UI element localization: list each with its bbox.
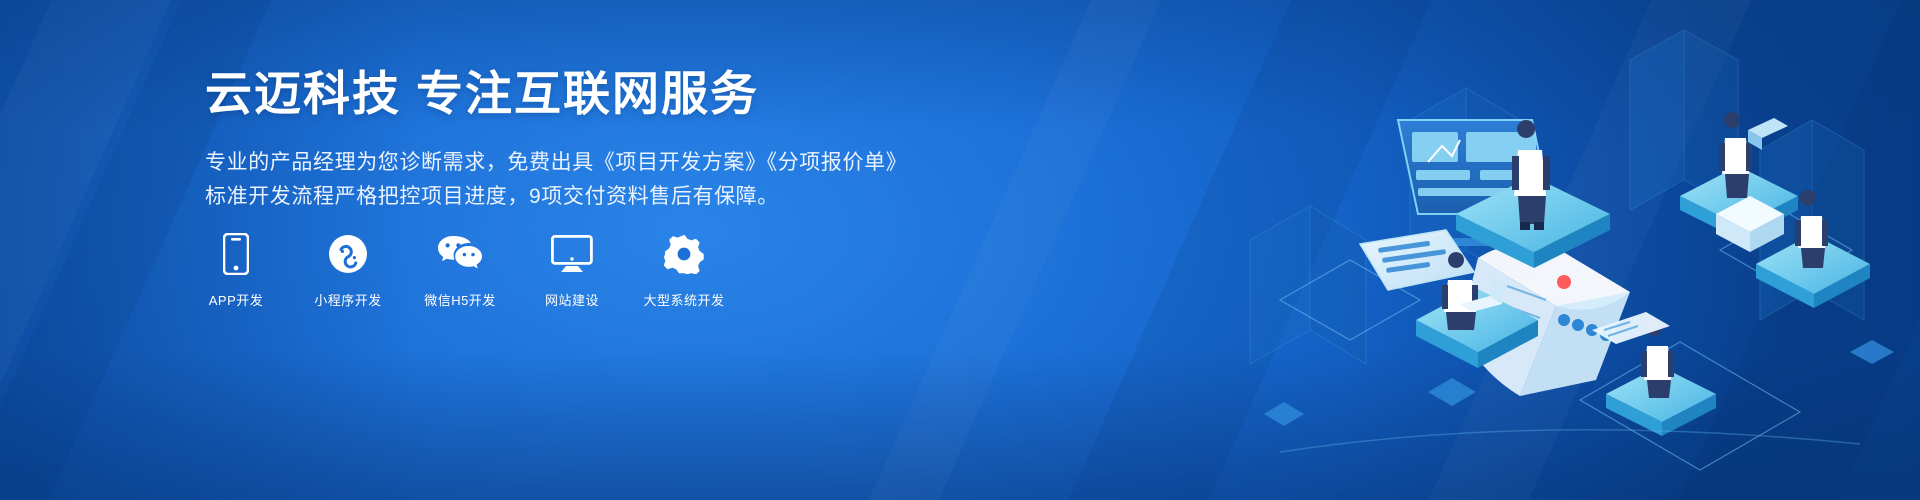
service-label: 小程序开发 <box>314 290 382 309</box>
facet-shape <box>0 0 189 500</box>
service-icon-row: APP开发 小程序开发 <box>200 232 720 309</box>
hero-content: 云迈科技 专注互联网服务 专业的产品经理为您诊断需求，免费出具《项目开发方案》《… <box>205 68 1105 214</box>
hero-banner: 云迈科技 专注互联网服务 专业的产品经理为您诊断需求，免费出具《项目开发方案》《… <box>0 0 1920 500</box>
service-item-wechat-h5[interactable]: 微信H5开发 <box>424 232 496 309</box>
subtitle-line-1: 专业的产品经理为您诊断需求，免费出具《项目开发方案》《分项报价单》 <box>205 146 1105 180</box>
gear-icon <box>664 232 704 276</box>
page-title: 云迈科技 专注互联网服务 <box>205 68 1105 120</box>
wechat-icon <box>437 232 483 276</box>
isometric-team-dashboard-illustration <box>1160 0 1920 500</box>
service-label: APP开发 <box>209 290 264 309</box>
service-item-app[interactable]: APP开发 <box>200 232 272 309</box>
service-label: 大型系统开发 <box>644 290 725 309</box>
monitor-icon <box>551 232 593 276</box>
service-item-miniprogram[interactable]: 小程序开发 <box>312 232 384 309</box>
service-item-website[interactable]: 网站建设 <box>536 232 608 309</box>
subtitle-block: 专业的产品经理为您诊断需求，免费出具《项目开发方案》《分项报价单》 标准开发流程… <box>205 146 1105 214</box>
service-label: 网站建设 <box>545 290 599 309</box>
service-item-large-system[interactable]: 大型系统开发 <box>648 232 720 309</box>
mini-program-icon <box>328 232 368 276</box>
subtitle-line-2: 标准开发流程严格把控项目进度，9项交付资料售后有保障。 <box>205 180 1105 214</box>
mobile-phone-icon <box>223 232 249 276</box>
service-label: 微信H5开发 <box>424 290 496 309</box>
